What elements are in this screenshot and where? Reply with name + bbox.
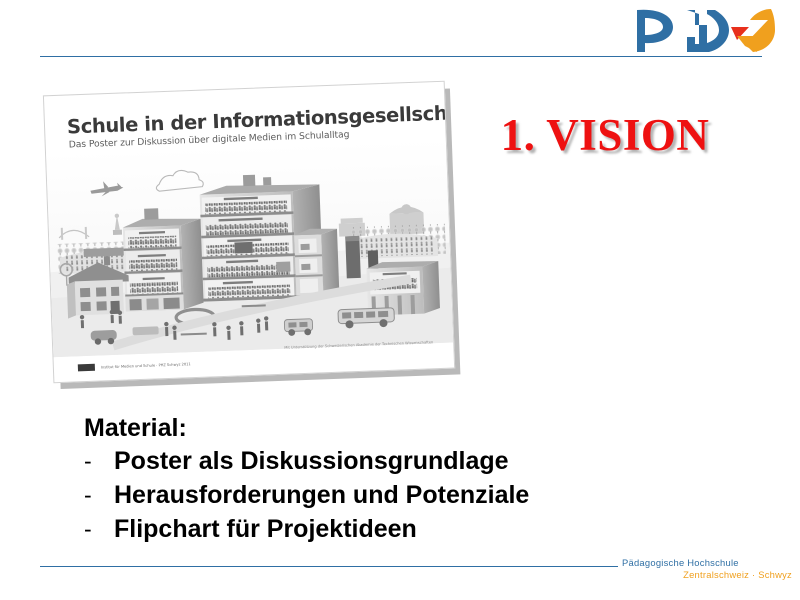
poster-credit-text: Institut für Medien und Schule · PHZ Sch… [101, 362, 191, 369]
list-item-label: Herausforderungen und Potenziale [114, 478, 529, 512]
footer-branding: Pädagogische Hochschule Zentralschweiz ·… [622, 557, 792, 580]
header-divider [40, 56, 762, 57]
list-item: - Herausforderungen und Potenziale [84, 478, 724, 512]
list-item-label: Poster als Diskussionsgrundlage [114, 444, 509, 478]
footer-institution-name: Pädagogische Hochschule [622, 557, 792, 568]
bullet-dash-icon: - [84, 444, 114, 478]
poster-illustration [46, 138, 453, 358]
material-heading: Material: [84, 412, 724, 444]
list-item: - Poster als Diskussionsgrundlage [84, 444, 724, 478]
slide-canvas: 1. VISION Schule in der Informationsgese… [0, 0, 800, 600]
page-title: 1. VISION [455, 108, 755, 162]
footer-divider [40, 566, 618, 567]
list-item-label: Flipchart für Projektideen [114, 512, 417, 546]
footer-institution-region: Zentralschweiz · Schwyz [622, 569, 792, 580]
poster-credit: Institut für Medien und Schule · PHZ Sch… [78, 360, 191, 371]
bullet-dash-icon: - [84, 478, 114, 512]
creative-commons-icon [78, 364, 95, 372]
bullet-dash-icon: - [84, 512, 114, 546]
poster-image: Schule in der Informationsgesellschaft D… [43, 81, 453, 381]
phz-logo [633, 6, 775, 54]
poster-sheet: Schule in der Informationsgesellschaft D… [43, 81, 455, 384]
content-text-block: Material: - Poster als Diskussionsgrundl… [84, 412, 724, 546]
list-item: - Flipchart für Projektideen [84, 512, 724, 546]
